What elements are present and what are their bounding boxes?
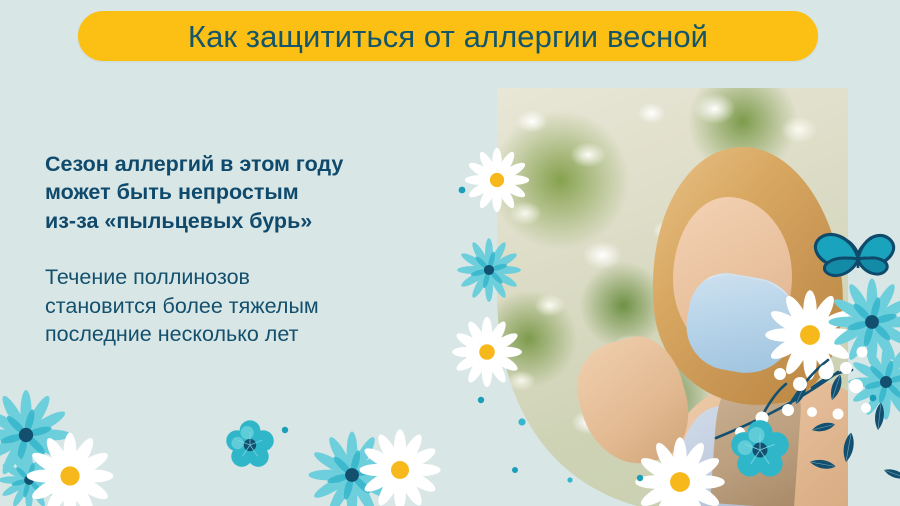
- photo-clip: [497, 88, 848, 506]
- lead-paragraph: Сезон аллергий в этом году может быть не…: [45, 150, 445, 236]
- dot-teal-curve-a: [478, 397, 484, 403]
- daisy-teal-small-left: [0, 450, 59, 506]
- page-title: Как защититься от аллергии весной: [188, 21, 708, 52]
- daisy-white-bottom-mid: [359, 429, 440, 506]
- bloom-teal-bottom-center: [226, 420, 274, 467]
- title-banner: Как защититься от аллергии весной: [78, 11, 818, 61]
- daisy-teal-far-right: [848, 344, 900, 419]
- copy-block: Сезон аллергий в этом году может быть не…: [45, 128, 445, 371]
- photo-panel: [497, 88, 848, 506]
- slide-canvas: Как защититься от аллергии весной Сезон …: [0, 0, 900, 506]
- daisy-teal-bottom-center: [309, 432, 396, 506]
- daisy-white-bottom-left: [27, 433, 114, 506]
- dot-teal-center: [282, 427, 288, 433]
- body-paragraph: Течение поллинозов становится более тяже…: [45, 263, 445, 349]
- daisy-teal-bottom-left: [0, 390, 71, 480]
- dot-teal-upper-left: [459, 187, 466, 194]
